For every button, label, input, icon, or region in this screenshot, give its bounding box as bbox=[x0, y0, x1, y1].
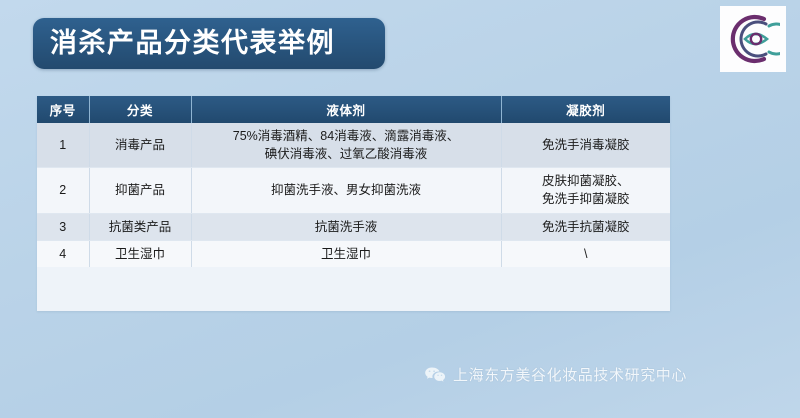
slide-canvas: 消杀产品分类代表举例 序号 分类 液体剂 凝胶剂 1 消毒产品 75%消毒酒精、… bbox=[0, 0, 800, 418]
column-header-liquid: 液体剂 bbox=[191, 96, 501, 123]
cell-index: 4 bbox=[37, 240, 89, 267]
footer-watermark: 上海东方美谷化妆品技术研究中心 bbox=[424, 364, 687, 385]
cell-liquid: 75%消毒酒精、84消毒液、滴露消毒液、 碘伏消毒液、过氧乙酸消毒液 bbox=[191, 123, 501, 168]
table-header-row: 序号 分类 液体剂 凝胶剂 bbox=[37, 96, 670, 123]
cell-index: 2 bbox=[37, 168, 89, 213]
circular-c-eye-logo bbox=[726, 12, 780, 66]
column-header-category: 分类 bbox=[89, 96, 191, 123]
cell-category: 卫生湿巾 bbox=[89, 240, 191, 267]
wechat-icon bbox=[424, 366, 446, 384]
brand-logo bbox=[720, 6, 786, 72]
cell-gel: \ bbox=[501, 240, 670, 267]
cell-index: 3 bbox=[37, 213, 89, 240]
cell-gel: 皮肤抑菌凝胶、 免洗手抑菌凝胶 bbox=[501, 168, 670, 213]
cell-liquid: 卫生湿巾 bbox=[191, 240, 501, 267]
cell-category: 抗菌类产品 bbox=[89, 213, 191, 240]
cell-gel: 免洗手抗菌凝胶 bbox=[501, 213, 670, 240]
table-row: 2 抑菌产品 抑菌洗手液、男女抑菌洗液 皮肤抑菌凝胶、 免洗手抑菌凝胶 bbox=[37, 168, 670, 213]
slide-title-plate: 消杀产品分类代表举例 bbox=[33, 18, 385, 69]
footer-text: 上海东方美谷化妆品技术研究中心 bbox=[453, 364, 687, 385]
page-title: 消杀产品分类代表举例 bbox=[33, 30, 335, 57]
cell-gel: 免洗手消毒凝胶 bbox=[501, 123, 670, 168]
column-header-gel: 凝胶剂 bbox=[501, 96, 670, 123]
cell-index: 1 bbox=[37, 123, 89, 168]
cell-category: 消毒产品 bbox=[89, 123, 191, 168]
cell-category: 抑菌产品 bbox=[89, 168, 191, 213]
table-row: 1 消毒产品 75%消毒酒精、84消毒液、滴露消毒液、 碘伏消毒液、过氧乙酸消毒… bbox=[37, 123, 670, 168]
product-classification-table: 序号 分类 液体剂 凝胶剂 1 消毒产品 75%消毒酒精、84消毒液、滴露消毒液… bbox=[37, 96, 670, 311]
table-row: 3 抗菌类产品 抗菌洗手液 免洗手抗菌凝胶 bbox=[37, 213, 670, 240]
cell-liquid: 抗菌洗手液 bbox=[191, 213, 501, 240]
cell-liquid: 抑菌洗手液、男女抑菌洗液 bbox=[191, 168, 501, 213]
table-row: 4 卫生湿巾 卫生湿巾 \ bbox=[37, 240, 670, 267]
column-header-index: 序号 bbox=[37, 96, 89, 123]
